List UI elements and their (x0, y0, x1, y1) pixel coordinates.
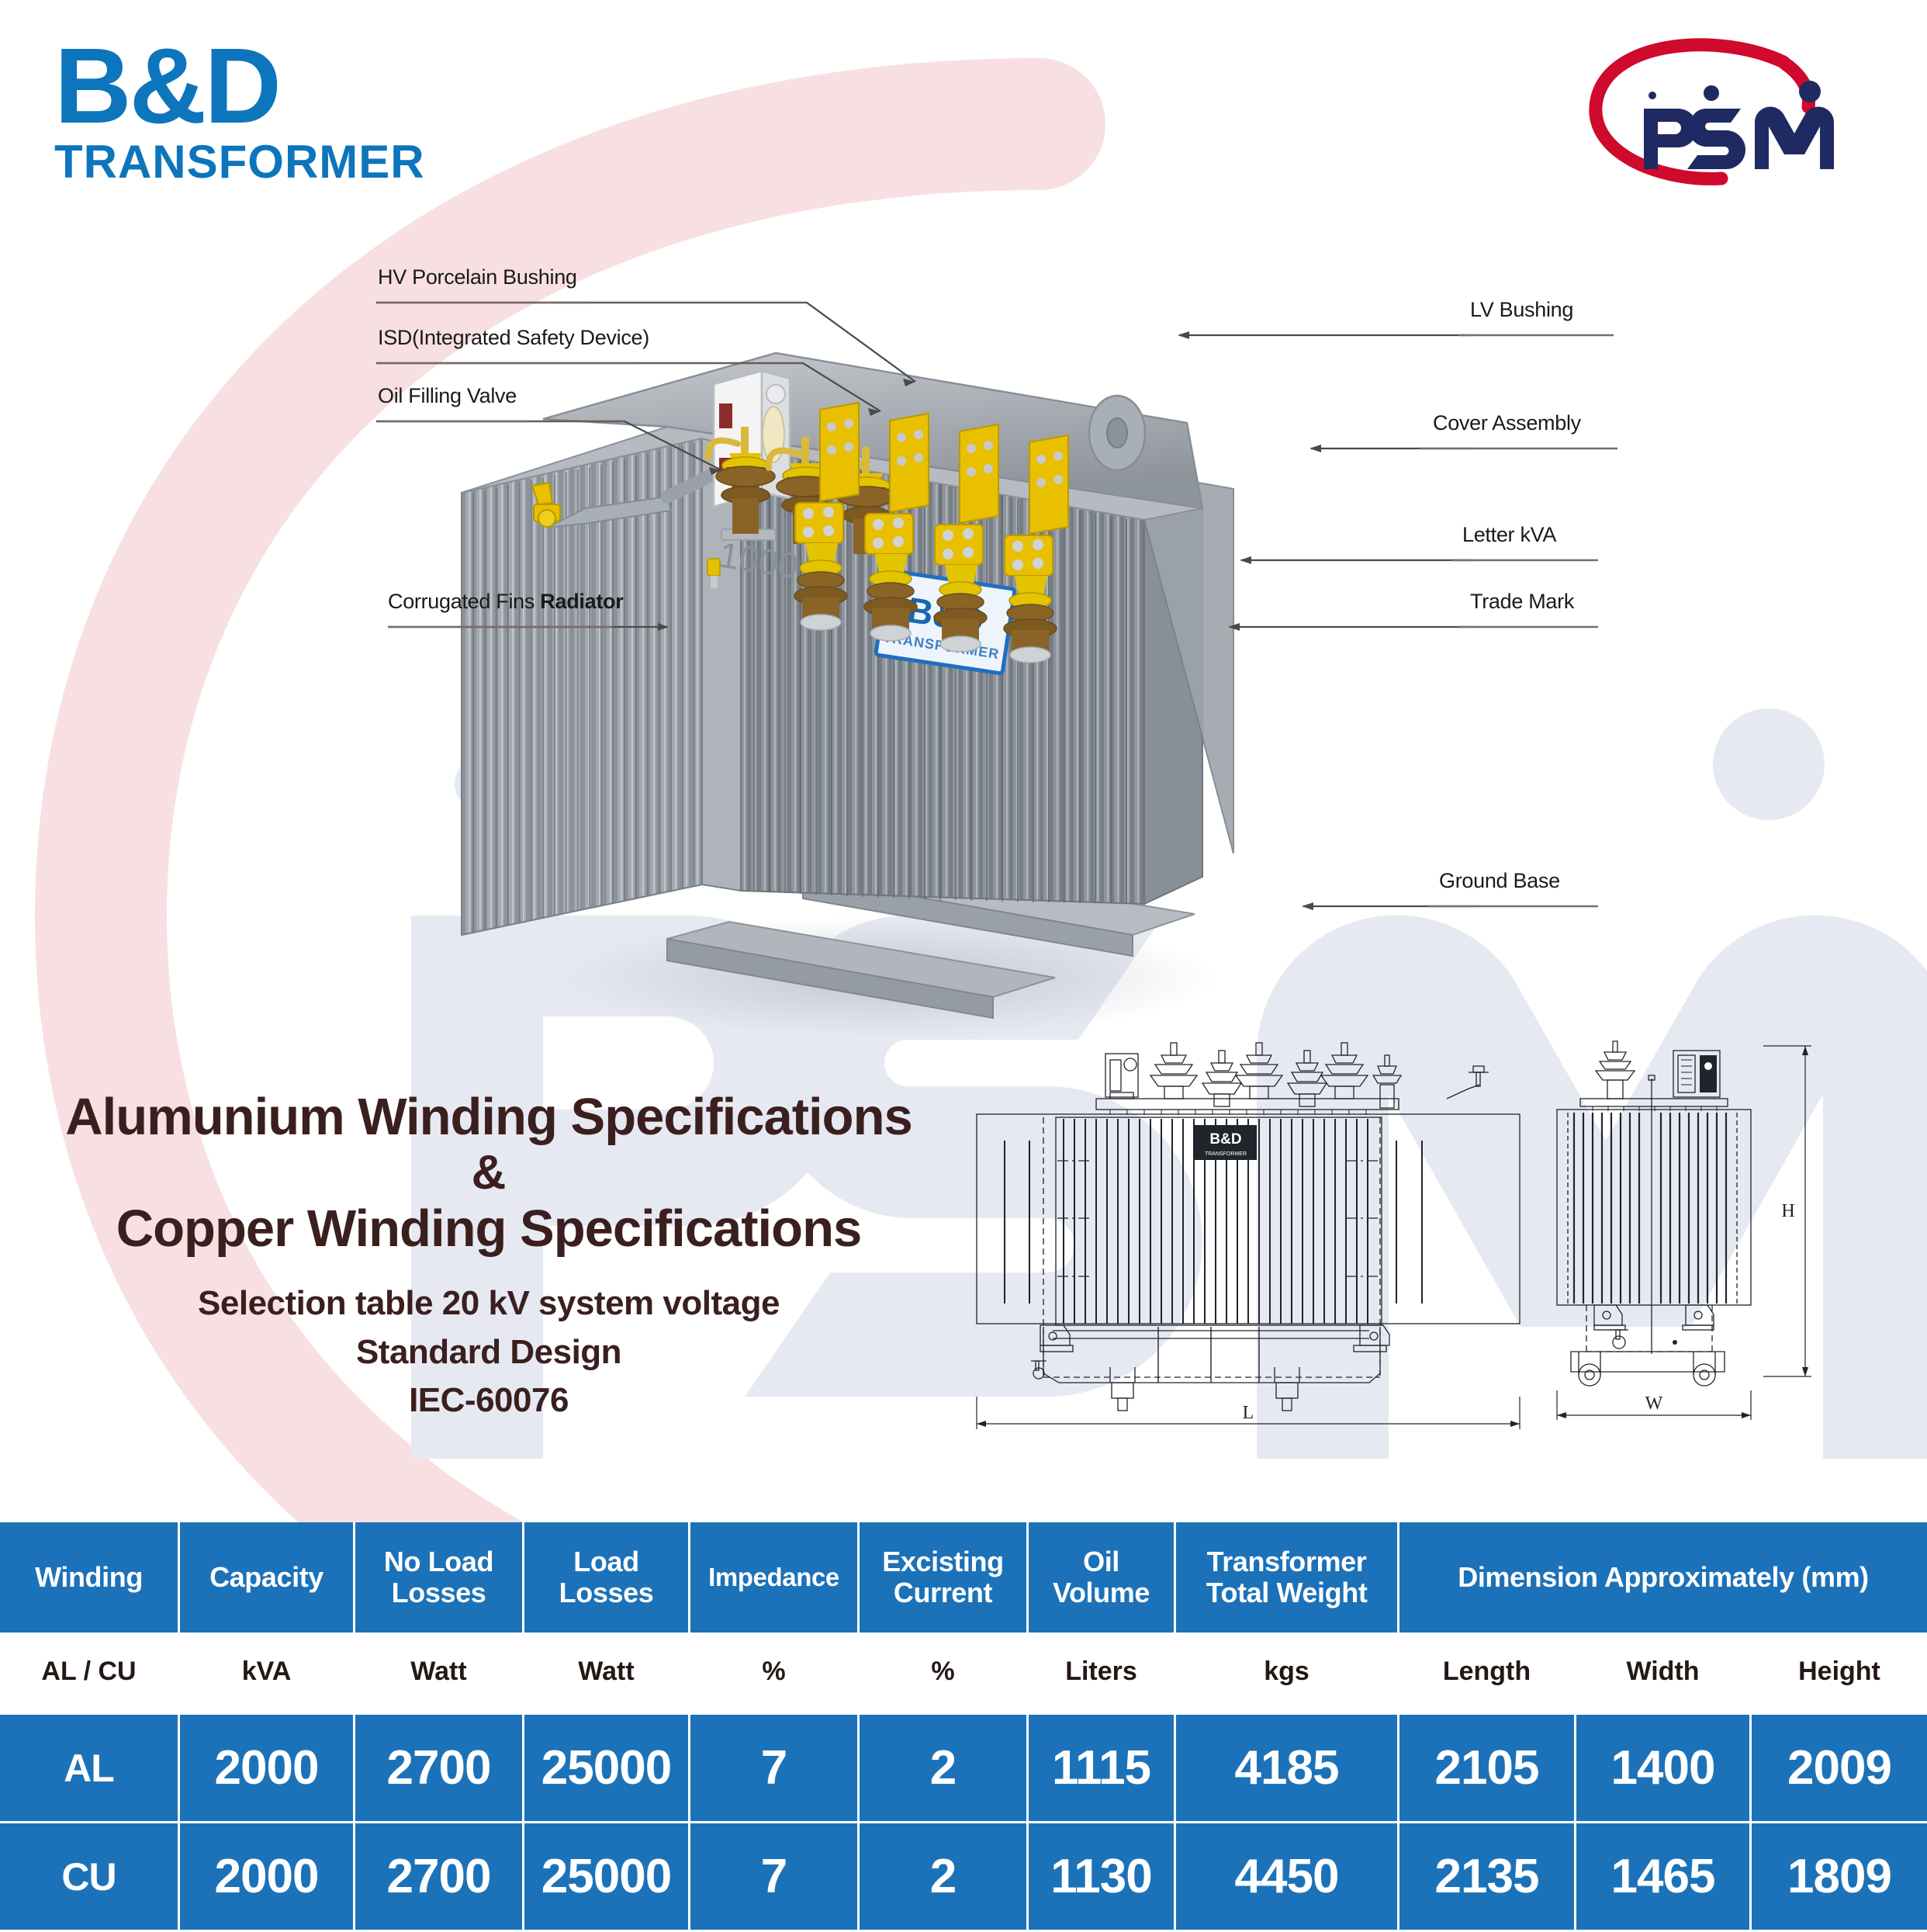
callout-label: Oil Filling Valve (378, 384, 517, 407)
spec-subtitle-standard: IEC-60076 (23, 1376, 954, 1425)
header-oil-volume: Oil Volume (1029, 1522, 1176, 1633)
front-view-drawing: B&D TRANSFORMER (977, 1043, 1520, 1429)
unit-oil-volume: Liters (1029, 1633, 1176, 1710)
header-impedance: Impedance (690, 1522, 860, 1633)
header-line: No Load (355, 1546, 522, 1577)
cell-width: 1465 (1576, 1823, 1752, 1932)
cell-total-weight: 4450 (1176, 1823, 1399, 1932)
transformer-hero-illustration: 1000 B&D TRANSFORMER (233, 194, 1707, 1063)
cell-load-losses: 25000 (524, 1823, 690, 1932)
callout-label: ISD(Integrated Safety Device) (378, 326, 649, 349)
cell-length: 2105 (1399, 1715, 1576, 1823)
spec-title-line1: Alumunium Winding Specifications (23, 1086, 954, 1148)
callout-label: HV Porcelain Bushing (378, 265, 577, 289)
drawing-plate-sub: TRANSFORMER (1205, 1151, 1247, 1157)
specifications-table: Winding Capacity No Load Losses Load Los… (0, 1522, 1927, 1932)
cell-winding: AL (0, 1715, 180, 1823)
technical-drawings: B&D TRANSFORMER (966, 1032, 1920, 1451)
header-line: Losses (524, 1577, 688, 1608)
callout-letter-kva: Letter kVA (1462, 523, 1556, 547)
unit-winding: AL / CU (0, 1633, 180, 1710)
drawing-plate-main: B&D (1209, 1131, 1241, 1148)
cell-height: 1809 (1752, 1823, 1927, 1932)
header-no-load-losses: No Load Losses (355, 1522, 524, 1633)
drawing-width-label: W (1645, 1394, 1663, 1414)
header-winding: Winding (0, 1522, 180, 1633)
cell-capacity: 2000 (180, 1715, 355, 1823)
table-units-row: AL / CU kVA Watt Watt % % Liters kgs Len… (0, 1633, 1927, 1710)
cell-oil-volume: 1130 (1029, 1823, 1176, 1932)
header-line: Excisting (860, 1546, 1026, 1577)
header-dimension-approximately: Dimension Approximately (mm) (1399, 1522, 1927, 1633)
header-transformer-total-weight: Transformer Total Weight (1176, 1522, 1399, 1633)
spec-subtitle-design: Standard Design (23, 1328, 954, 1376)
cell-load-losses: 25000 (524, 1715, 690, 1823)
callout-label: Trade Mark (1470, 590, 1574, 613)
header-excisting-current: Excisting Current (860, 1522, 1029, 1633)
header-line: Oil (1029, 1546, 1174, 1577)
table-row: CU 2000 2700 25000 7 2 1130 4450 2135 14… (0, 1823, 1927, 1932)
drawing-height-label: H (1781, 1201, 1794, 1221)
cell-total-weight: 4185 (1176, 1715, 1399, 1823)
cell-winding: CU (0, 1823, 180, 1932)
drawing-length-label: L (1243, 1403, 1254, 1423)
callout-trade-mark: Trade Mark (1470, 590, 1574, 614)
callout-ground-base: Ground Base (1439, 869, 1560, 893)
callout-lv-bushing: LV Bushing (1470, 298, 1573, 322)
header-line: Load (524, 1546, 688, 1577)
cell-no-load-losses: 2700 (355, 1823, 524, 1932)
bd-transformer-logo: B&D TRANSFORMER (54, 33, 425, 188)
bd-logo-main: B&D (54, 33, 425, 140)
cell-impedance: 7 (690, 1715, 860, 1823)
callout-label: Letter kVA (1462, 523, 1556, 546)
callout-label: Ground Base (1439, 869, 1560, 892)
callout-label: Cover Assembly (1433, 411, 1581, 435)
callout-label-bold: Radiator (540, 590, 623, 613)
table-row: AL 2000 2700 25000 7 2 1115 4185 2105 14… (0, 1715, 1927, 1823)
callout-isd-integrated-safety-device: ISD(Integrated Safety Device) (378, 326, 649, 350)
unit-capacity: kVA (180, 1633, 355, 1710)
cell-width: 1400 (1576, 1715, 1752, 1823)
specifications-title-block: Alumunium Winding Specifications & Coppe… (23, 1086, 954, 1425)
cell-length: 2135 (1399, 1823, 1576, 1932)
cell-excisting-current: 2 (860, 1715, 1029, 1823)
cell-impedance: 7 (690, 1823, 860, 1932)
unit-length: Length (1399, 1633, 1576, 1710)
unit-width: Width (1576, 1633, 1752, 1710)
cell-no-load-losses: 2700 (355, 1715, 524, 1823)
callout-label: LV Bushing (1470, 298, 1573, 321)
spec-title-ampersand: & (23, 1148, 954, 1198)
unit-height: Height (1752, 1633, 1927, 1710)
header-capacity: Capacity (180, 1522, 355, 1633)
callout-oil-filling-valve: Oil Filling Valve (378, 384, 517, 408)
unit-load-losses: Watt (524, 1633, 690, 1710)
header-line: Total Weight (1176, 1577, 1397, 1608)
spec-subtitle-voltage: Selection table 20 kV system voltage (23, 1279, 954, 1328)
unit-total-weight: kgs (1176, 1633, 1399, 1710)
cell-capacity: 2000 (180, 1823, 355, 1932)
bd-logo-sub: TRANSFORMER (54, 137, 425, 188)
side-view-drawing: W H (1557, 1041, 1811, 1420)
callout-hv-porcelain-bushing: HV Porcelain Bushing (378, 265, 577, 289)
unit-excisting-current: % (860, 1633, 1029, 1710)
callout-cover-assembly: Cover Assembly (1433, 411, 1581, 435)
header-line: Transformer (1176, 1546, 1397, 1577)
header-line: Losses (355, 1577, 522, 1608)
psm-logo (1566, 31, 1838, 186)
unit-impedance: % (690, 1633, 860, 1710)
table-header-row: Winding Capacity No Load Losses Load Los… (0, 1522, 1927, 1633)
cell-excisting-current: 2 (860, 1823, 1029, 1932)
cell-height: 2009 (1752, 1715, 1927, 1823)
unit-no-load-losses: Watt (355, 1633, 524, 1710)
header-load-losses: Load Losses (524, 1522, 690, 1633)
callout-corrugated-fins-radiator: Corrugated Fins Radiator (388, 590, 623, 614)
header-line: Current (860, 1577, 1026, 1608)
callout-label: Corrugated Fins (388, 590, 540, 613)
spec-title-line2: Copper Winding Specifications (23, 1198, 954, 1259)
header-line: Volume (1029, 1577, 1174, 1608)
cell-oil-volume: 1115 (1029, 1715, 1176, 1823)
